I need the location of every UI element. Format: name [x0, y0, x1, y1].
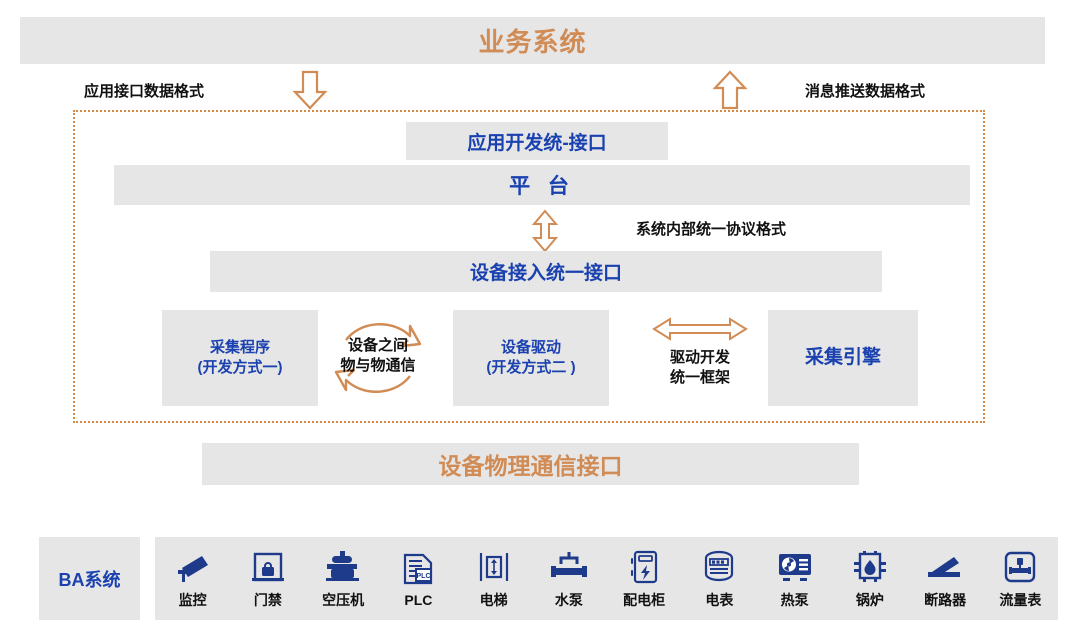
plc-controller-icon: PLC — [401, 549, 435, 589]
device-label: 水泵 — [555, 590, 583, 610]
app-interface-format-label: 应用接口数据格式 — [84, 80, 204, 101]
access-control-lock-icon — [250, 547, 286, 587]
device-item-flow-meter[interactable]: 流量表 — [986, 547, 1054, 610]
device-item-water-pump[interactable]: 水泵 — [535, 547, 603, 610]
device-driver-line1: 设备驱动 — [501, 338, 561, 358]
device-item-access-control[interactable]: 门禁 — [234, 547, 302, 610]
collector-program-line1: 采集程序 — [210, 338, 270, 358]
air-compressor-icon — [324, 547, 362, 587]
arrow-up-down-icon — [522, 208, 568, 254]
device-item-elevator[interactable]: 电梯 — [460, 547, 528, 610]
device-label: 锅炉 — [856, 590, 884, 610]
device-label: 空压机 — [322, 590, 364, 610]
device-driver-line2: (开发方式二 ) — [486, 358, 575, 378]
device-item-air-compressor[interactable]: 空压机 — [309, 547, 377, 610]
boiler-icon — [851, 547, 889, 587]
device-item-heat-pump[interactable]: 热泵 — [761, 547, 829, 610]
collection-engine-box: 采集引擎 — [768, 310, 918, 406]
device-label: PLC — [404, 592, 432, 608]
arrow-left-right-icon — [650, 312, 750, 346]
business-system-title-bar: 业务系统 — [20, 17, 1045, 64]
arrow-up-icon — [708, 68, 752, 112]
message-push-format-label: 消息推送数据格式 — [805, 80, 925, 101]
device-to-device-communication-text: 设备之间 物与物通信 — [322, 336, 434, 377]
device-item-boiler[interactable]: 锅炉 — [836, 547, 904, 610]
heat-pump-icon — [776, 547, 814, 587]
circuit-breaker-icon — [925, 547, 965, 587]
ba-system-label: BA系统 — [59, 566, 121, 592]
device-label: 电梯 — [480, 590, 508, 610]
water-pump-icon — [549, 547, 589, 587]
device-item-circuit-breaker[interactable]: 断路器 — [911, 547, 979, 610]
collection-engine-label: 采集引擎 — [805, 345, 881, 371]
device-label: 流量表 — [999, 590, 1041, 610]
platform-bar: 平 台 — [114, 165, 970, 205]
arrow-down-icon — [288, 68, 332, 112]
elevator-icon — [477, 547, 511, 587]
device-driver-box: 设备驱动 (开发方式二 ) — [453, 310, 609, 406]
device-to-device-line2: 物与物通信 — [322, 356, 434, 376]
device-to-device-line1: 设备之间 — [322, 336, 434, 356]
device-item-plc[interactable]: PLC PLC — [384, 549, 452, 608]
ba-system-box: BA系统 — [39, 537, 140, 620]
device-label: 热泵 — [781, 590, 809, 610]
driver-framework-line1: 驱动开发 — [650, 348, 750, 368]
device-label: 配电柜 — [623, 590, 665, 610]
device-access-interface-label: 设备接入统一接口 — [470, 258, 622, 285]
device-to-device-communication-group: 设备之间 物与物通信 — [322, 302, 434, 414]
device-label: 电表 — [705, 590, 733, 610]
driver-framework-text: 驱动开发 统一框架 — [650, 348, 750, 389]
api-unified-interface-label: 应用开发统-接口 — [467, 128, 606, 155]
physical-communication-interface-label: 设备物理通信接口 — [439, 447, 623, 481]
device-label: 断路器 — [924, 590, 966, 610]
physical-communication-interface-bar: 设备物理通信接口 — [202, 443, 859, 485]
device-item-distribution-cabinet[interactable]: 配电柜 — [610, 547, 678, 610]
collector-program-box: 采集程序 (开发方式一) — [162, 310, 318, 406]
flow-meter-icon — [1003, 547, 1037, 587]
driver-framework-line2: 统一框架 — [650, 368, 750, 388]
api-unified-interface-bar: 应用开发统-接口 — [406, 122, 668, 160]
internal-protocol-format-label: 系统内部统一协议格式 — [636, 218, 786, 239]
device-label: 门禁 — [254, 590, 282, 610]
distribution-cabinet-icon — [629, 547, 659, 587]
driver-framework-group: 驱动开发 统一框架 — [650, 312, 750, 404]
device-item-cctv[interactable]: 监控 — [159, 547, 227, 610]
device-item-electric-meter[interactable]: 电表 — [685, 547, 753, 610]
electric-meter-icon — [702, 547, 736, 587]
platform-label: 平 台 — [509, 170, 575, 200]
device-access-interface-bar: 设备接入统一接口 — [210, 251, 882, 292]
device-list-strip: 监控 门禁 空压机 — [155, 537, 1058, 620]
business-system-title: 业务系统 — [478, 22, 586, 59]
cctv-camera-icon — [174, 547, 212, 587]
collector-program-line2: (开发方式一) — [198, 358, 283, 378]
device-label: 监控 — [179, 590, 207, 610]
svg-text:PLC: PLC — [417, 573, 431, 580]
